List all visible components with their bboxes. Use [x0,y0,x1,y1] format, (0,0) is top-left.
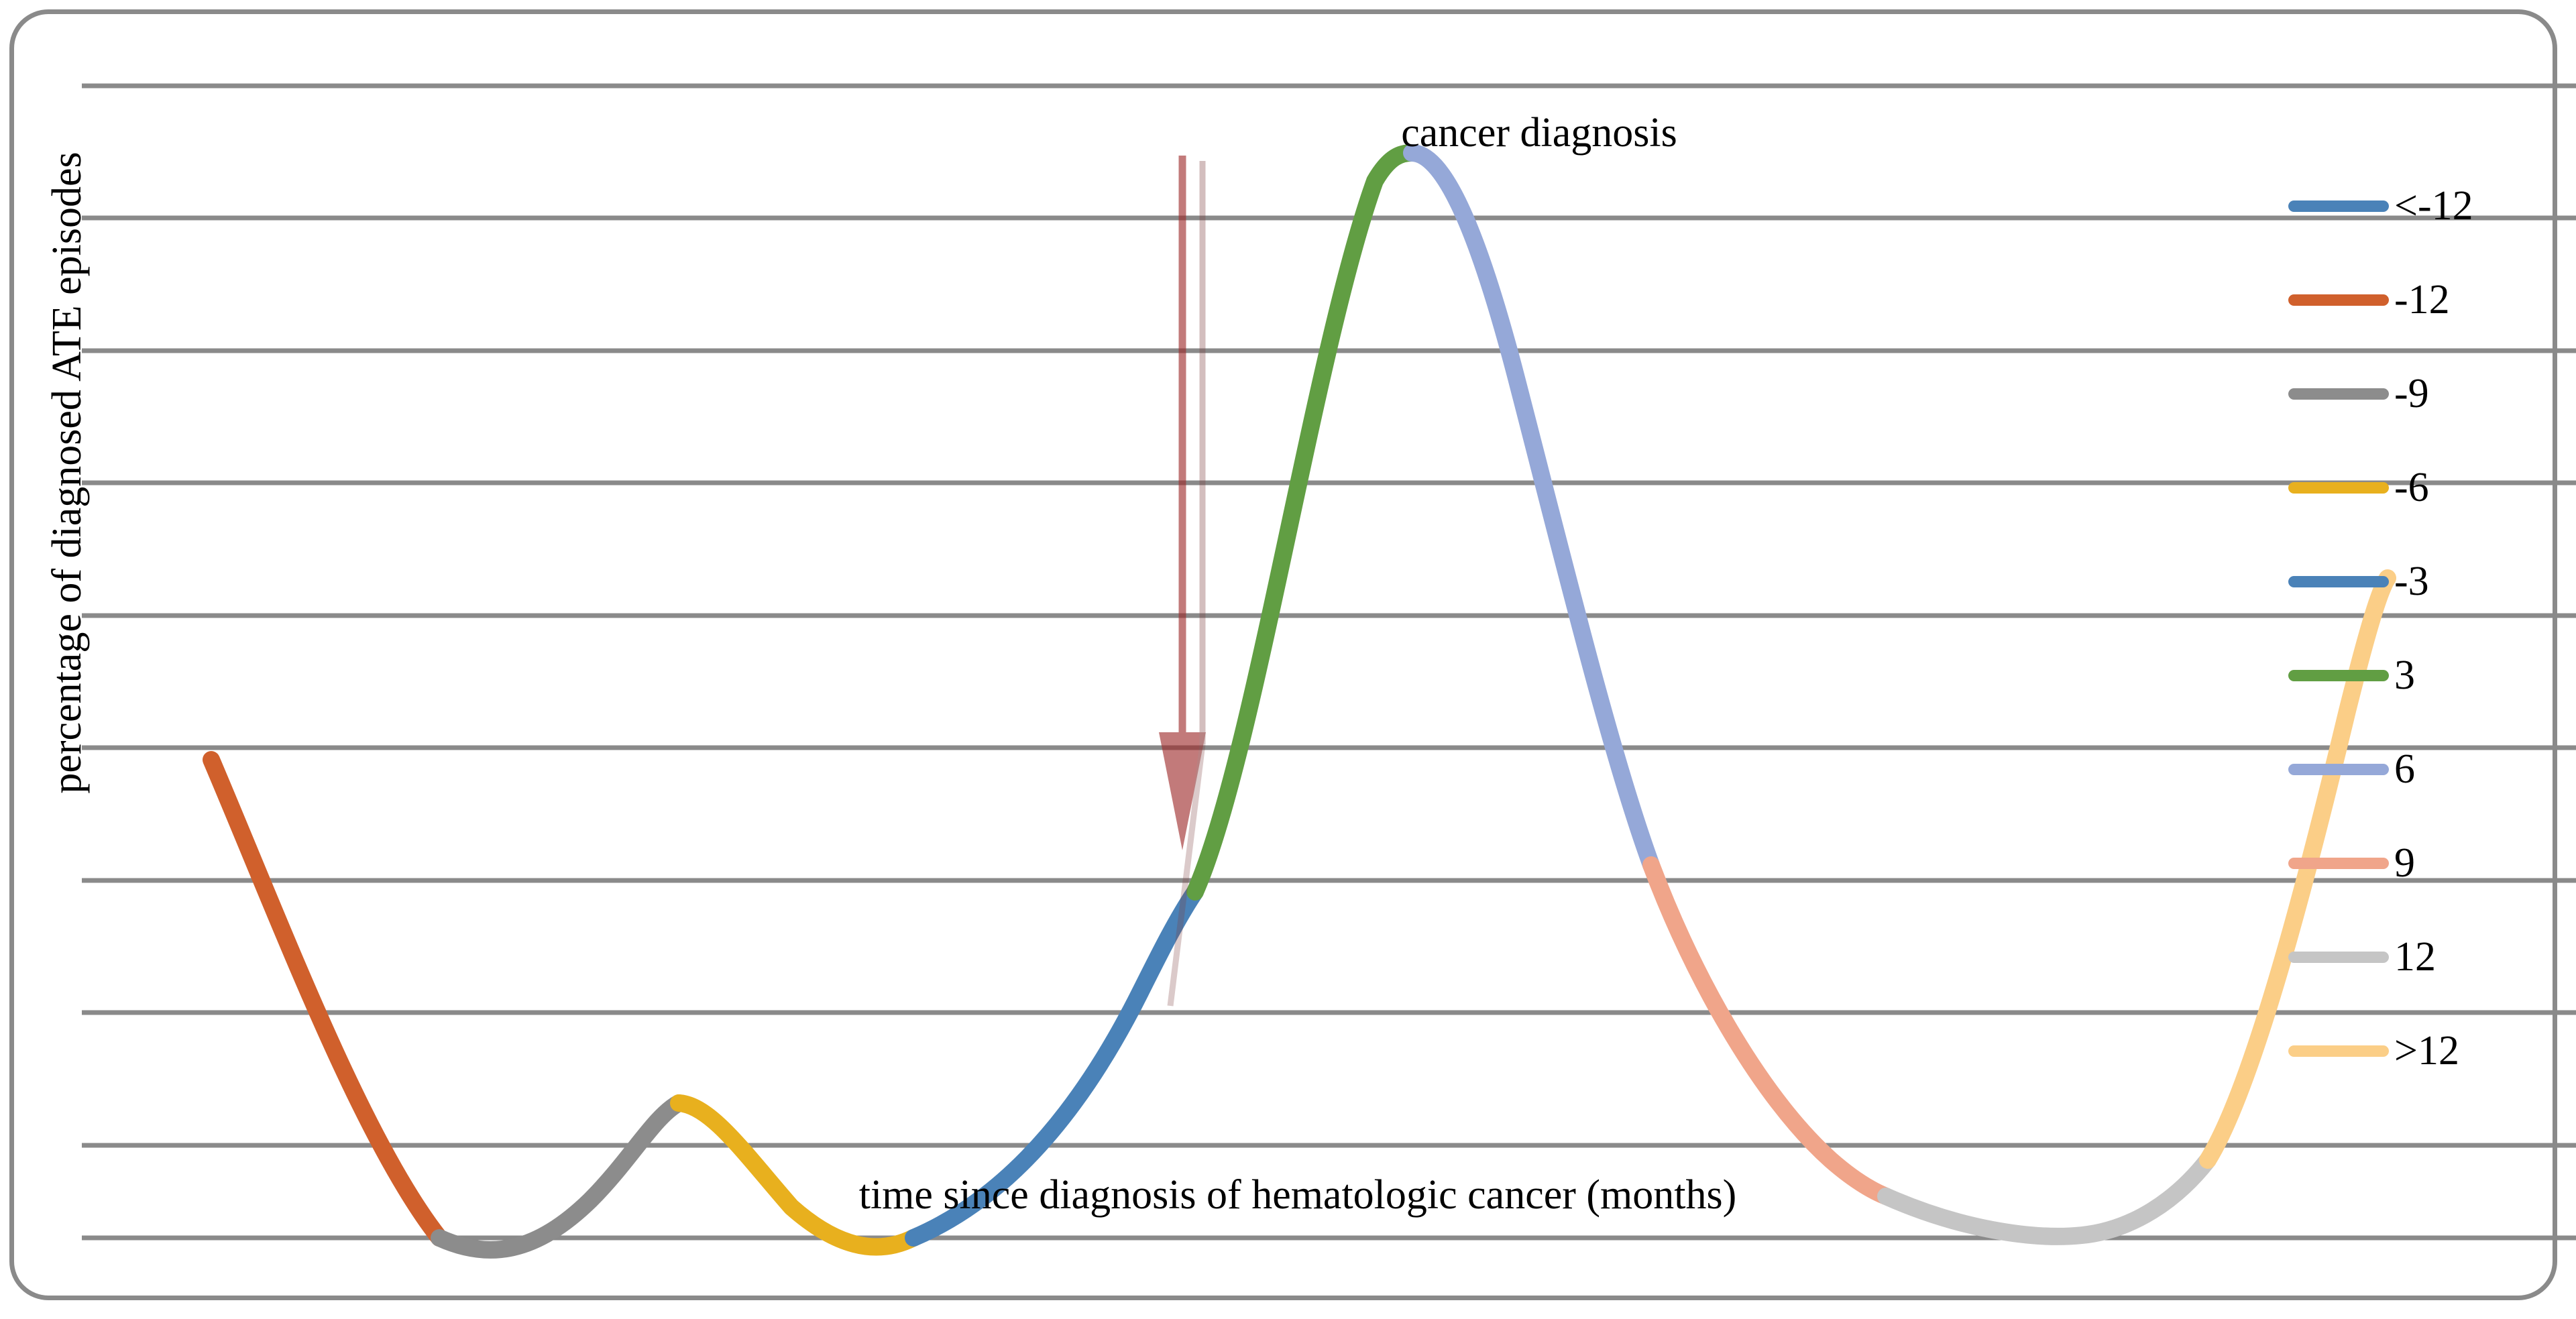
legend-swatch-icon [2288,482,2389,494]
legend-label: >12 [2394,1027,2459,1074]
legend-item-3[interactable]: 3 [2288,652,2570,699]
legend-label: 6 [2394,746,2415,793]
legend-item-minus3[interactable]: -3 [2288,558,2570,605]
chart-canvas: percentage of diagnosed ATE episodes tim… [0,0,2576,1319]
legend-swatch-icon [2288,764,2389,775]
legend-swatch-icon [2288,1045,2389,1057]
legend-swatch-icon [2288,200,2389,212]
legend-swatch-icon [2288,294,2389,306]
legend-label: 3 [2394,652,2415,699]
legend-item-lt-minus12[interactable]: <-12 [2288,182,2570,229]
legend-label: <-12 [2394,182,2473,229]
legend-item-minus6[interactable]: -6 [2288,464,2570,511]
legend-item-9[interactable]: 9 [2288,840,2570,886]
legend-label: -9 [2394,370,2429,417]
legend: <-12 -12 -9 -6 -3 3 6 9 [2288,182,2570,1121]
legend-item-minus9[interactable]: -9 [2288,370,2570,417]
legend-label: 12 [2394,933,2436,980]
legend-swatch-icon [2288,952,2389,963]
cancer-diagnosis-annotation: cancer diagnosis [1331,101,1747,165]
legend-swatch-icon [2288,670,2389,681]
legend-item-12[interactable]: 12 [2288,933,2570,980]
legend-label: -12 [2394,276,2450,323]
legend-label: 9 [2394,840,2415,886]
legend-swatch-icon [2288,388,2389,400]
legend-swatch-icon [2288,576,2389,587]
x-axis-title: time since diagnosis of hematologic canc… [708,1163,1888,1227]
cancer-diagnosis-arrow-icon [0,0,2576,1319]
legend-item-minus12[interactable]: -12 [2288,276,2570,323]
y-axis-title: percentage of diagnosed ATE episodes [37,77,97,868]
legend-item-gt12[interactable]: >12 [2288,1027,2570,1074]
legend-swatch-icon [2288,858,2389,869]
legend-label: -6 [2394,464,2429,511]
legend-item-6[interactable]: 6 [2288,746,2570,793]
legend-label: -3 [2394,558,2429,605]
